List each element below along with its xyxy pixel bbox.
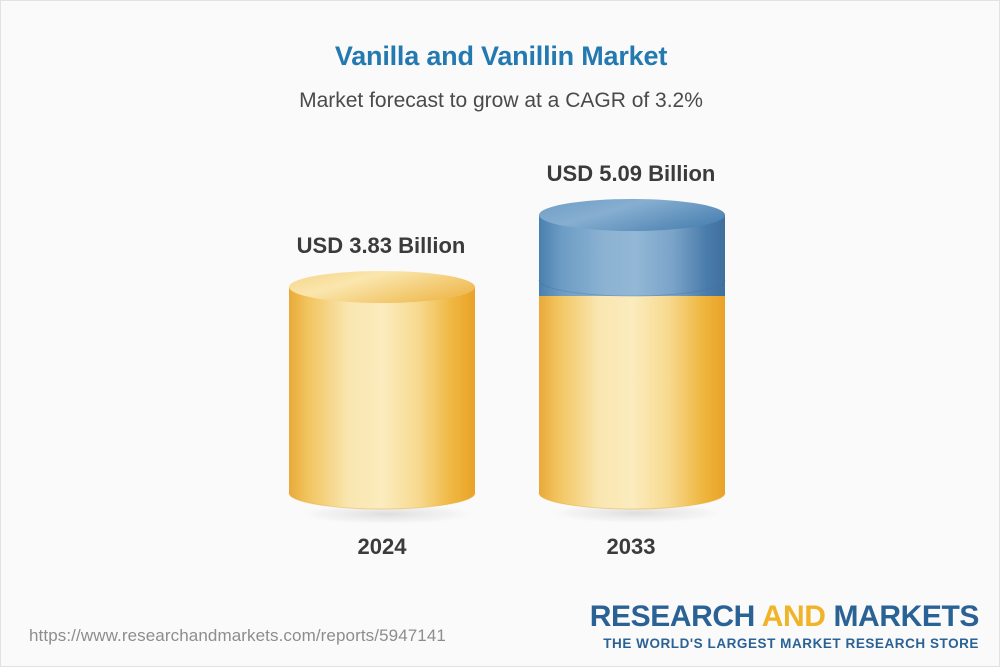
chart-canvas: Vanilla and Vanillin Market Market forec… [0,0,1000,667]
logo-wordmark: RESEARCH AND MARKETS [590,602,979,632]
cylinder-2024 [289,271,475,521]
logo-text-markets: MARKETS [826,600,979,633]
cylinder-2033 [539,199,725,521]
value-label-2024: USD 3.83 Billion [221,233,541,259]
logo-text-and: AND [762,600,826,633]
research-and-markets-logo[interactable]: RESEARCH AND MARKETS THE WORLD'S LARGEST… [590,602,979,651]
value-label-2033: USD 5.09 Billion [471,161,791,187]
plot-area: USD 3.83 Billion [1,1,1000,667]
source-url[interactable]: https://www.researchandmarkets.com/repor… [29,626,446,646]
logo-tagline: THE WORLD'S LARGEST MARKET RESEARCH STOR… [590,637,979,651]
logo-text-research: RESEARCH [590,600,762,633]
category-label-2033: 2033 [481,534,781,560]
